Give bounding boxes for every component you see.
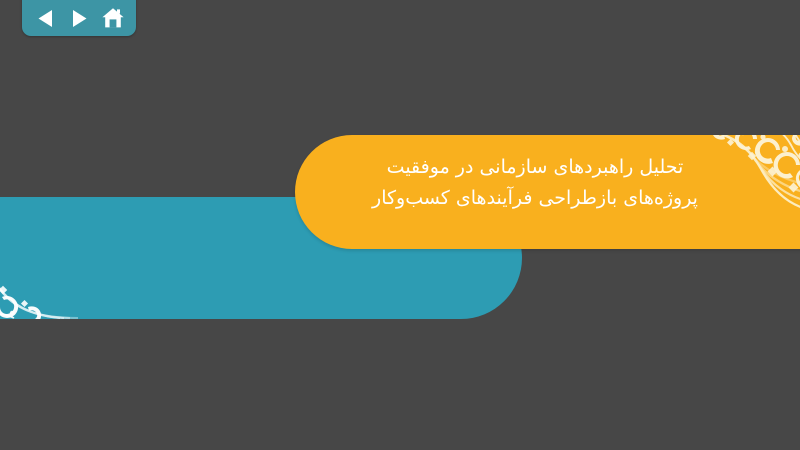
home-icon <box>101 7 125 29</box>
slide-title-line-2: پروژه‌های بازطراحی فرآیندهای کسب‌وکار <box>300 183 770 214</box>
next-slide-button[interactable] <box>65 5 93 31</box>
slide-canvas: تحلیل راهبردهای سازمانی در موفقیت پروژه‌… <box>0 0 800 450</box>
slide-navigation-toolbar <box>22 0 136 36</box>
previous-slide-button[interactable] <box>31 5 59 31</box>
home-button[interactable] <box>99 5 127 31</box>
triangle-left-icon <box>37 9 54 28</box>
persian-arabesque-ornament-teal <box>0 197 150 319</box>
slide-title: تحلیل راهبردهای سازمانی در موفقیت پروژه‌… <box>300 152 770 214</box>
slide-title-line-1: تحلیل راهبردهای سازمانی در موفقیت <box>300 152 770 183</box>
triangle-right-icon <box>71 9 88 28</box>
